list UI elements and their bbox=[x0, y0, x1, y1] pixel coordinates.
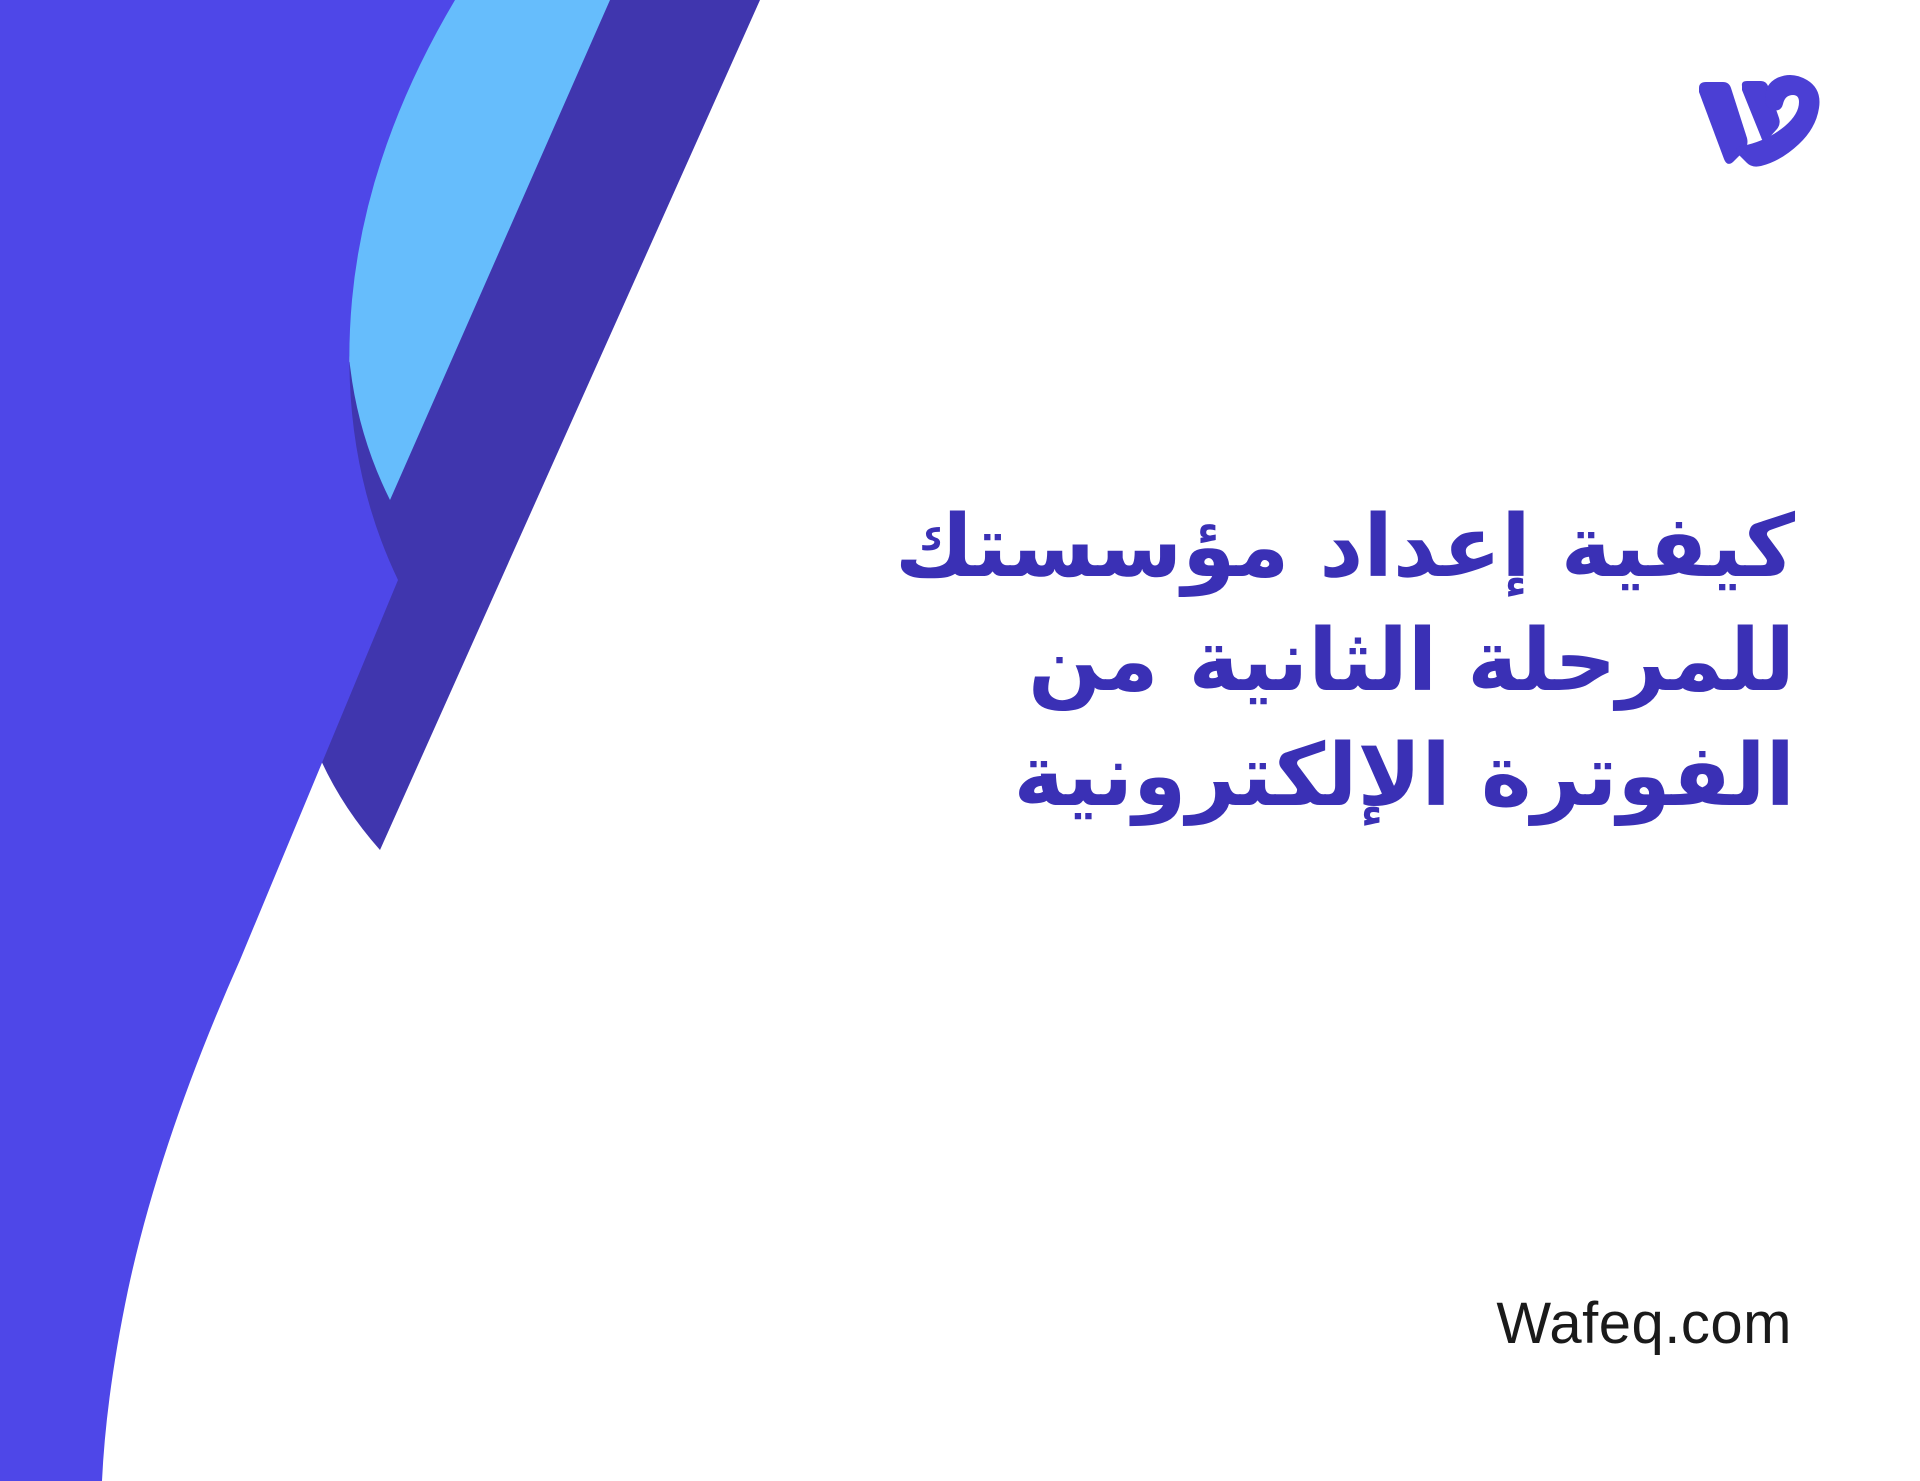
headline-line-3: الفوترة الإلكترونية bbox=[705, 719, 1795, 833]
social-card: كيفية إعداد مؤسستك للمرحلة الثانية من ال… bbox=[0, 0, 1920, 1481]
deep-indigo-band-shape bbox=[289, 0, 760, 850]
wafeq-logo[interactable] bbox=[1695, 62, 1835, 170]
headline-line-2: للمرحلة الثانية من bbox=[705, 604, 1795, 718]
light-blue-blade-shape bbox=[347, 0, 610, 500]
headline: كيفية إعداد مؤسستك للمرحلة الثانية من ال… bbox=[705, 490, 1795, 833]
wafeq-w-logo-icon bbox=[1699, 75, 1820, 167]
headline-line-1: كيفية إعداد مؤسستك bbox=[705, 490, 1795, 604]
primary-blue-shape bbox=[0, 0, 455, 1481]
website-url[interactable]: Wafeq.com bbox=[1496, 1290, 1792, 1357]
abstract-swoosh-graphic bbox=[0, 0, 760, 1481]
